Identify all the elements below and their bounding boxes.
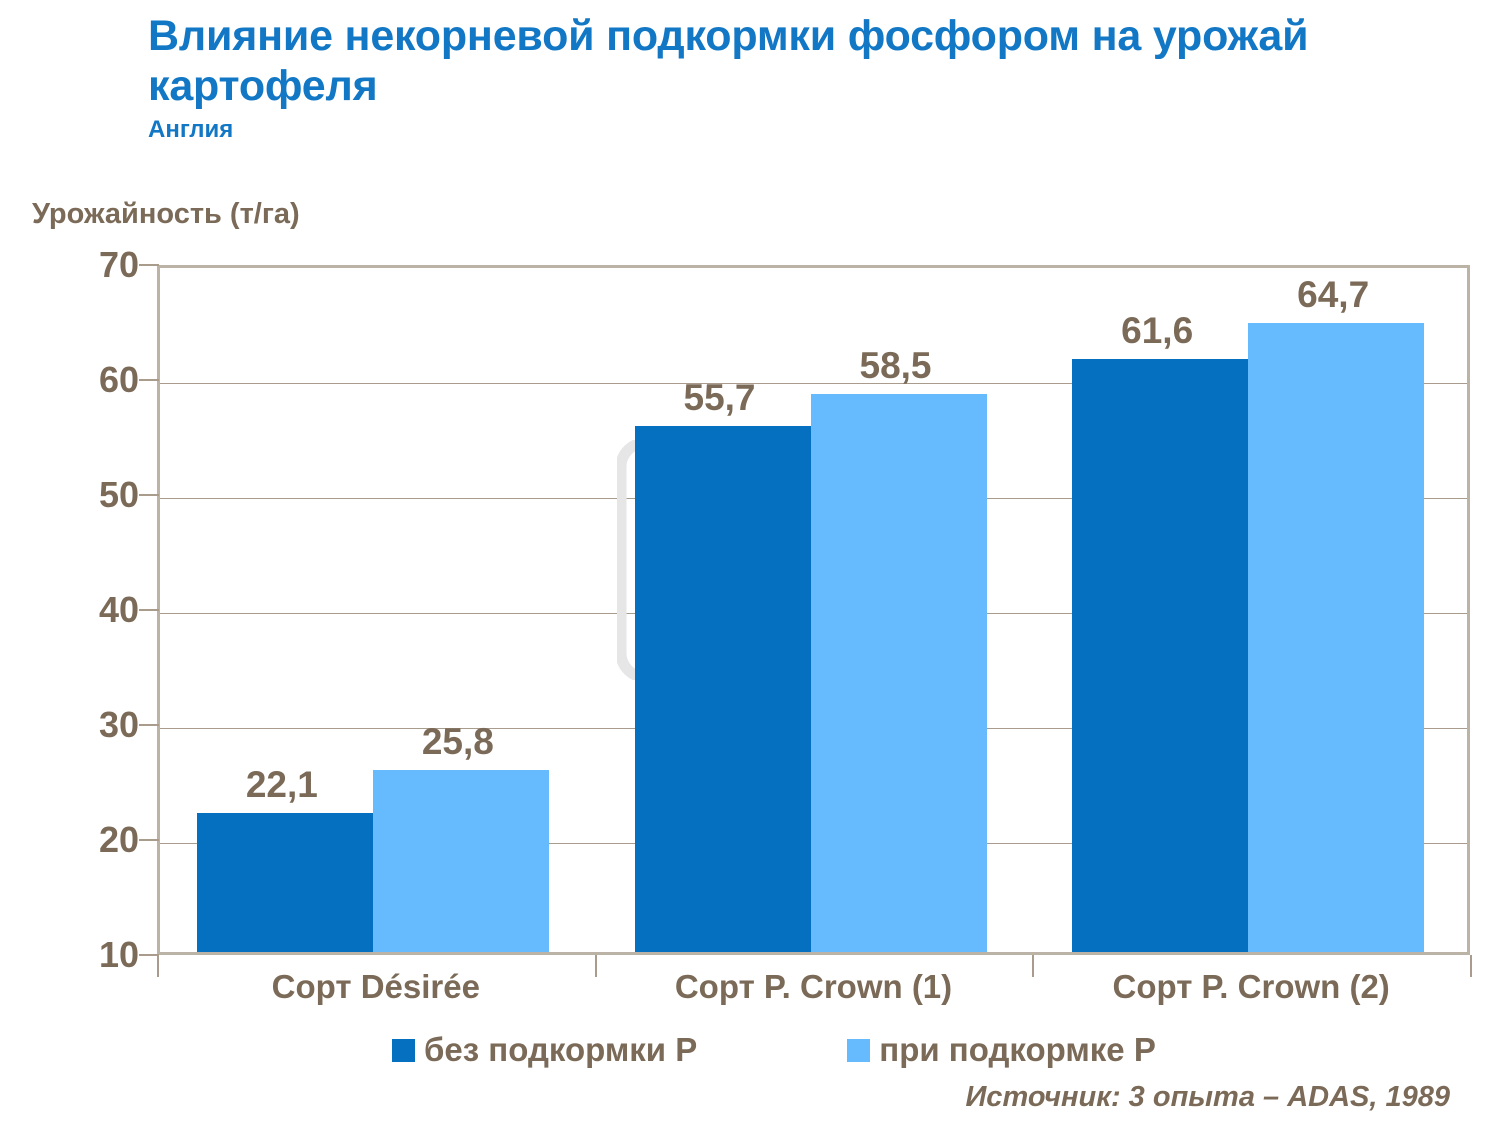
y-tick-label: 50 bbox=[29, 474, 139, 516]
x-tick-mark-edge bbox=[157, 955, 159, 977]
bar-value-label: 64,7 bbox=[1297, 274, 1369, 316]
x-tick-mark bbox=[1032, 955, 1034, 977]
legend-label-with-p: при подкормке P bbox=[879, 1031, 1156, 1069]
legend-swatch-no-p bbox=[392, 1039, 415, 1062]
x-tick-mark bbox=[595, 955, 597, 977]
bar-1-0[interactable] bbox=[373, 770, 549, 952]
legend-item-with-p[interactable]: при подкормке P bbox=[847, 1031, 1156, 1069]
plot-area bbox=[157, 265, 1470, 955]
bar-0-1[interactable] bbox=[635, 426, 811, 952]
y-tick-label: 40 bbox=[29, 589, 139, 631]
y-tick-label: 20 bbox=[29, 819, 139, 861]
bar-value-label: 22,1 bbox=[246, 764, 318, 806]
legend: без подкормки P при подкормке P bbox=[392, 1031, 1156, 1069]
y-tick-mark bbox=[139, 379, 159, 381]
x-tick-mark-edge bbox=[1470, 955, 1472, 977]
bar-0-2[interactable] bbox=[1072, 359, 1248, 952]
y-tick-mark bbox=[139, 609, 159, 611]
y-tick-label: 60 bbox=[29, 359, 139, 401]
chart-plot: 10203040506070 YARA Сорт DésiréeСорт P. … bbox=[0, 0, 1500, 1125]
y-tick-mark bbox=[139, 494, 159, 496]
bar-0-0[interactable] bbox=[197, 813, 373, 952]
category-label: Сорт P. Crown (1) bbox=[675, 968, 952, 1006]
bar-1-1[interactable] bbox=[811, 394, 987, 952]
y-tick-label: 70 bbox=[29, 244, 139, 286]
bar-value-label: 25,8 bbox=[422, 721, 494, 763]
legend-label-no-p: без подкормки P bbox=[424, 1031, 697, 1069]
category-label: Сорт Désirée bbox=[272, 968, 480, 1006]
category-label: Сорт P. Crown (2) bbox=[1113, 968, 1390, 1006]
legend-item-no-p[interactable]: без подкормки P bbox=[392, 1031, 697, 1069]
y-tick-label: 30 bbox=[29, 704, 139, 746]
bar-value-label: 61,6 bbox=[1121, 310, 1193, 352]
bar-1-2[interactable] bbox=[1248, 323, 1424, 952]
y-tick-mark bbox=[139, 954, 159, 956]
bar-value-label: 55,7 bbox=[683, 377, 755, 419]
y-tick-mark bbox=[139, 839, 159, 841]
y-tick-mark bbox=[139, 264, 159, 266]
bar-value-label: 58,5 bbox=[859, 345, 931, 387]
source-note: Источник: 3 опыта – ADAS, 1989 bbox=[965, 1081, 1450, 1114]
y-tick-mark bbox=[139, 724, 159, 726]
y-axis-ticks: 10203040506070 bbox=[0, 0, 139, 1125]
y-tick-label: 10 bbox=[29, 934, 139, 976]
legend-swatch-with-p bbox=[847, 1039, 870, 1062]
